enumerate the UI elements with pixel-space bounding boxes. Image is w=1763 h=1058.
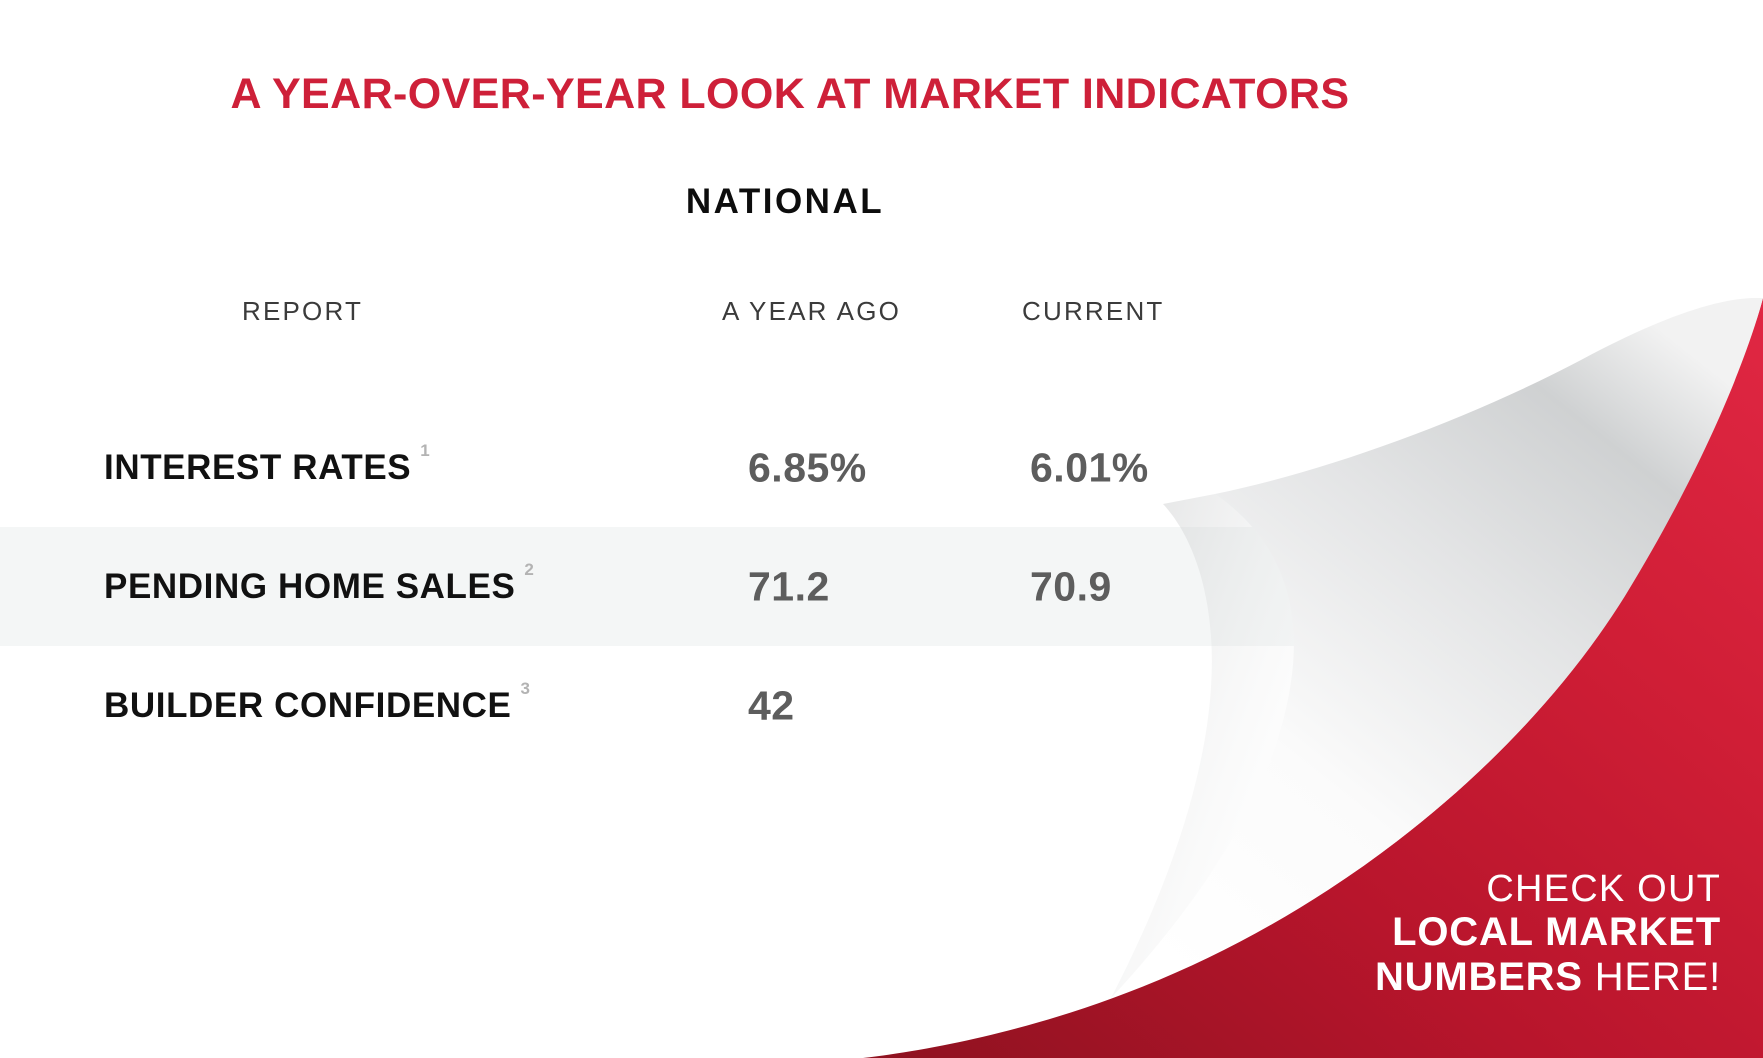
thumbs-up-icon	[1430, 430, 1512, 506]
cta-local-market-numbers[interactable]: CHECK OUT LOCAL MARKET NUMBERS HERE!	[1375, 868, 1721, 1000]
table-header-row: REPORT A YEAR AGO CURRENT	[0, 290, 1540, 346]
cta-line-2: LOCAL MARKET	[1375, 910, 1721, 955]
table-row: PENDING HOME SALES2 71.2 70.9	[0, 527, 1540, 646]
row-value-current: 70.9	[1030, 563, 1112, 610]
section-header-national: NATIONAL	[0, 182, 1570, 222]
row-value-a-year-ago: 42	[748, 682, 795, 729]
trend-indicator-down	[1428, 544, 1514, 630]
row-value-a-year-ago: 6.85%	[748, 444, 867, 491]
cta-line-3-bold: NUMBERS	[1375, 955, 1583, 999]
row-label: INTEREST RATES1	[104, 448, 421, 488]
column-header-report: REPORT	[242, 296, 363, 327]
cta-line-1: CHECK OUT	[1375, 868, 1721, 911]
row-value-current: 6.01%	[1030, 444, 1149, 491]
column-header-a-year-ago: A YEAR AGO	[722, 296, 901, 327]
cta-line-3-light: HERE!	[1583, 955, 1721, 999]
trend-indicator-up	[1428, 425, 1514, 511]
row-footnote-marker: 2	[524, 560, 533, 579]
row-footnote-marker: 3	[520, 679, 529, 698]
table-row: BUILDER CONFIDENCE3 42	[0, 646, 1540, 765]
table-row: INTEREST RATES1 6.85% 6.01%	[0, 408, 1540, 527]
row-value-a-year-ago: 71.2	[748, 563, 830, 610]
row-footnote-marker: 1	[420, 441, 429, 460]
table-body: INTEREST RATES1 6.85% 6.01%	[0, 408, 1540, 765]
thumbs-down-icon	[1430, 549, 1512, 625]
row-label-text: INTEREST RATES	[104, 448, 411, 487]
cta-line-3: NUMBERS HERE!	[1375, 955, 1721, 1000]
row-label-text: PENDING HOME SALES	[104, 567, 515, 606]
row-label-text: BUILDER CONFIDENCE	[104, 686, 511, 725]
market-indicators-table: REPORT A YEAR AGO CURRENT INTEREST RATES…	[0, 290, 1540, 765]
column-header-current: CURRENT	[1022, 296, 1165, 327]
row-label: PENDING HOME SALES2	[104, 567, 525, 607]
page-title: A YEAR-OVER-YEAR LOOK AT MARKET INDICATO…	[0, 70, 1580, 119]
infographic-page: A YEAR-OVER-YEAR LOOK AT MARKET INDICATO…	[0, 0, 1763, 1058]
row-label: BUILDER CONFIDENCE3	[104, 686, 521, 726]
